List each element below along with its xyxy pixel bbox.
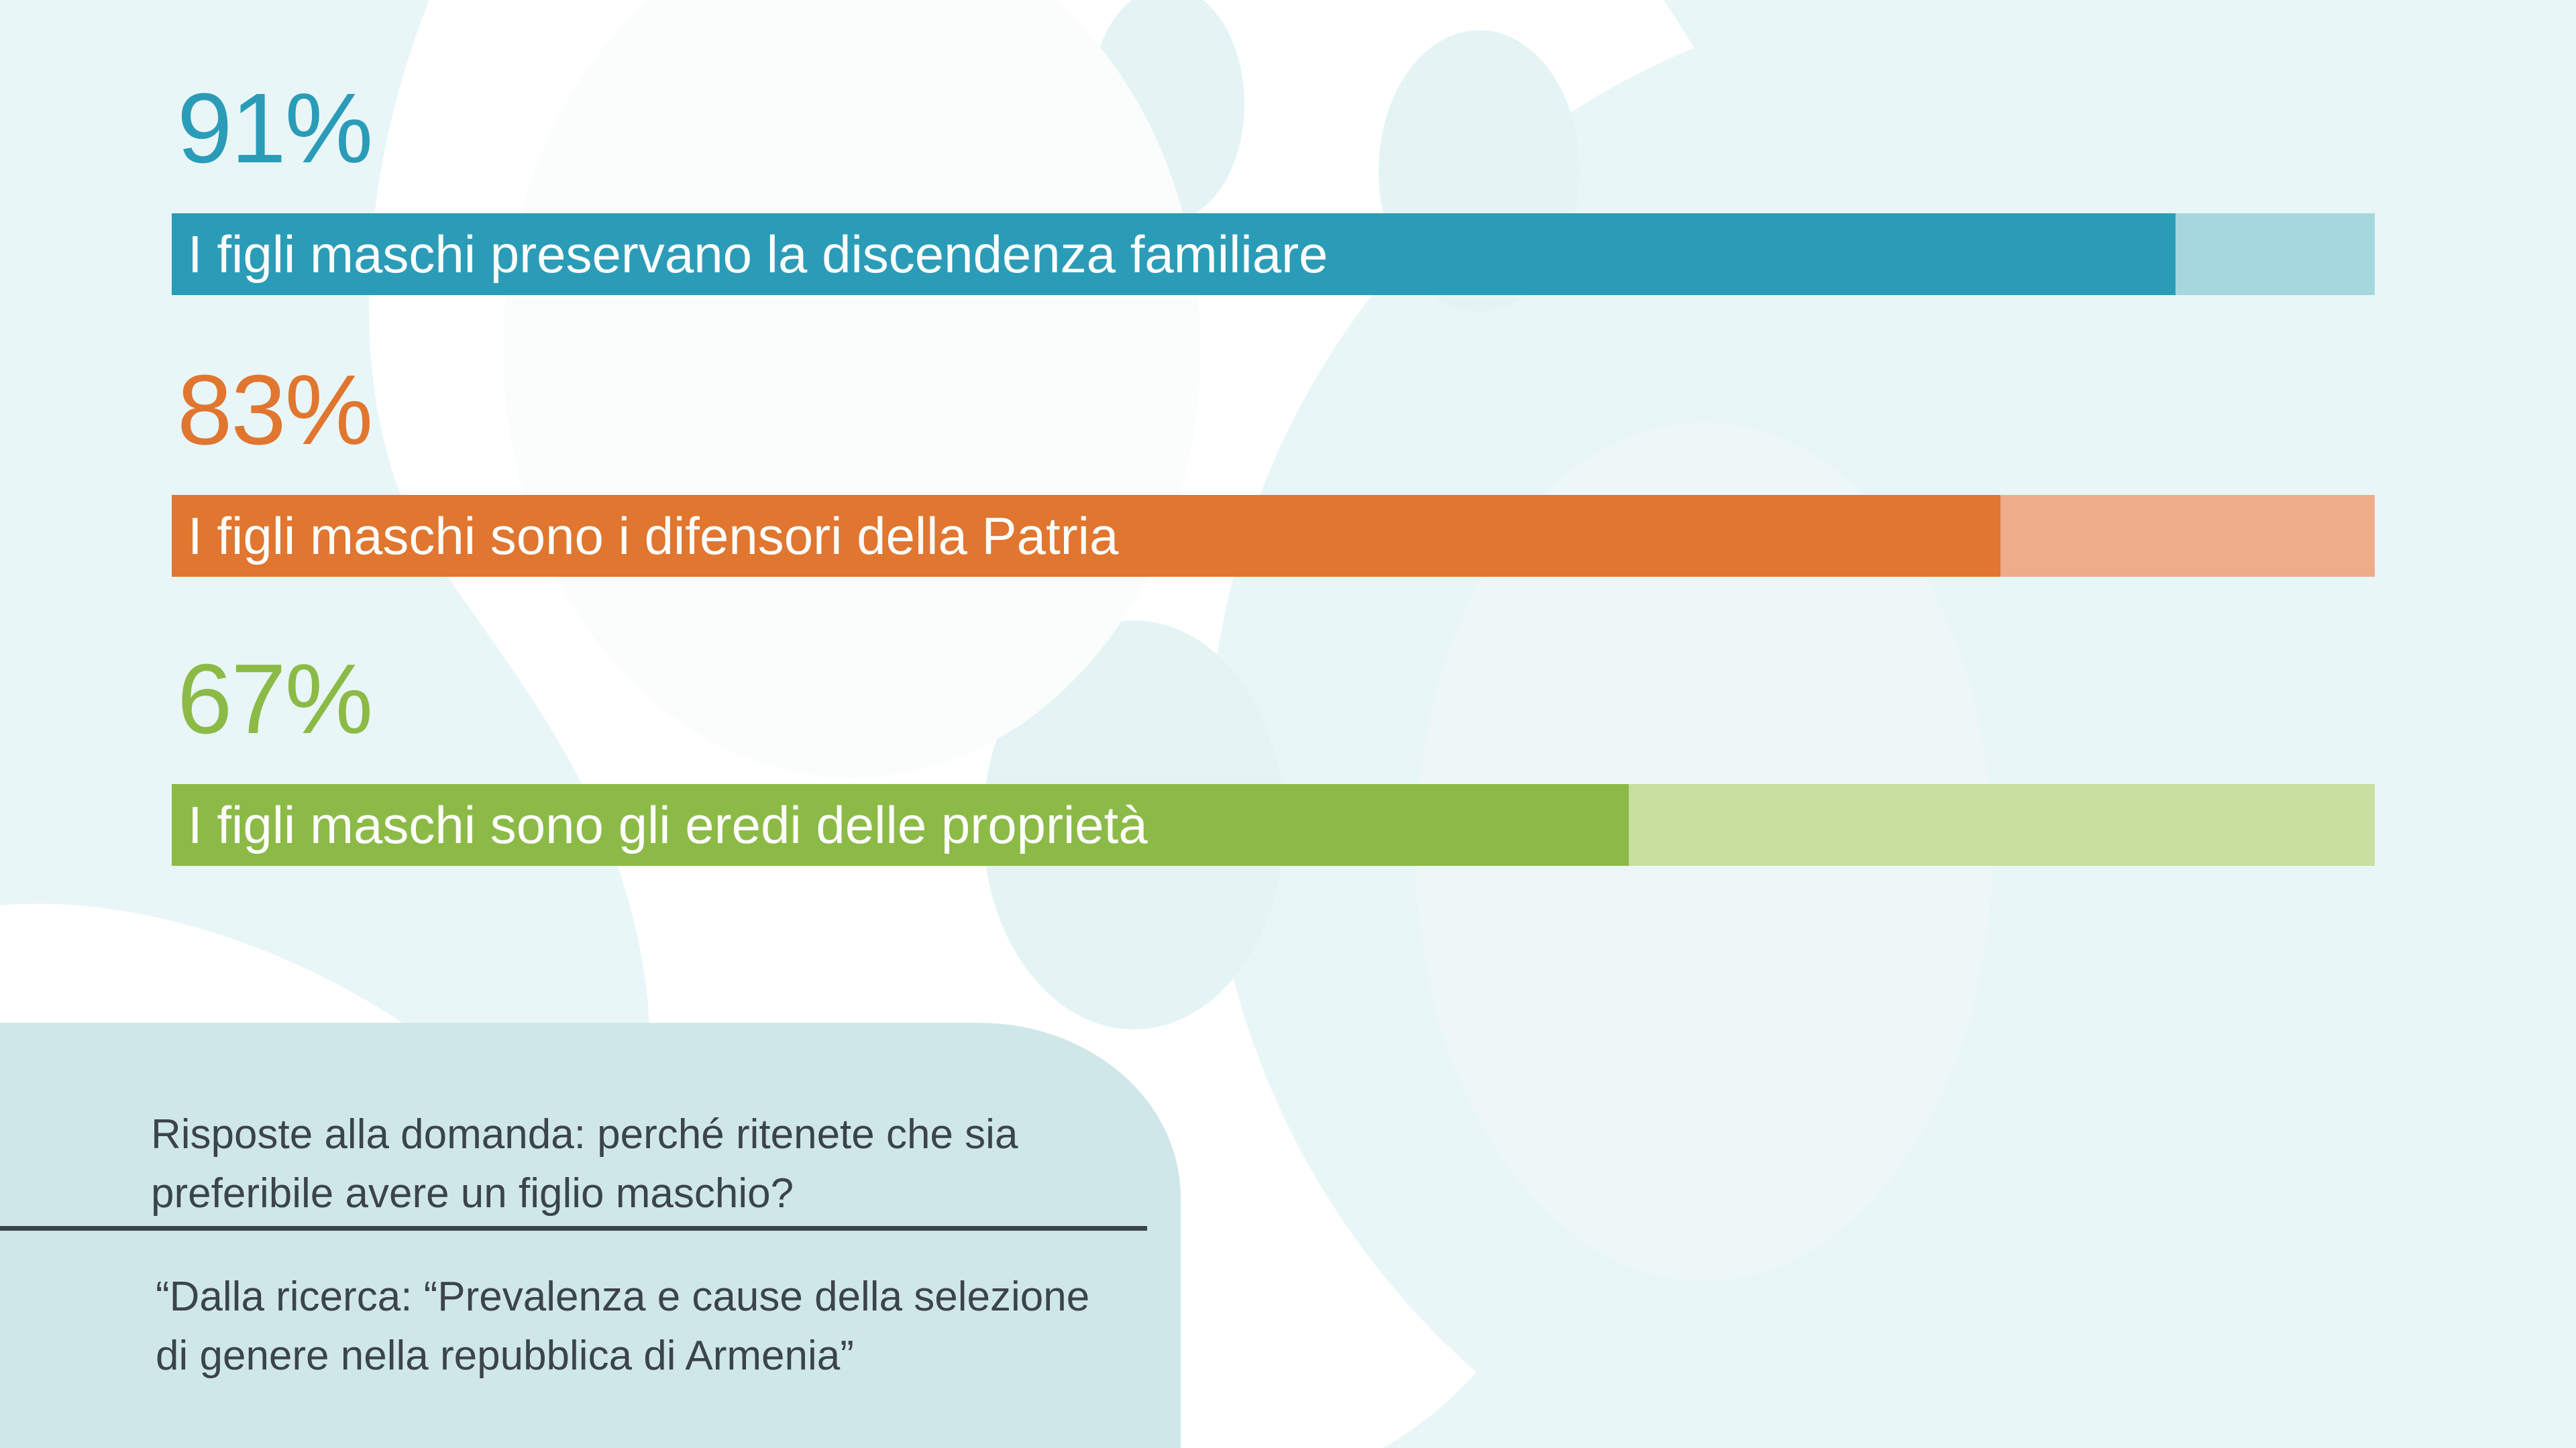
footer-source-line-1: “Dalla ricerca: “Prevalenza e cause dell… [156, 1268, 1162, 1327]
bar-label-1: I figli maschi preservano la discendenza… [172, 213, 1328, 295]
bar-row-3: 67% I figli maschi sono gli eredi delle … [172, 650, 2375, 866]
footer-question-line-2: preferibile avere un figlio maschio? [151, 1164, 1124, 1223]
bar-track-2: I figli maschi sono i difensori della Pa… [172, 495, 2375, 577]
bar-row-2: 83% I figli maschi sono i difensori dell… [172, 361, 2375, 577]
infographic-slide: 91% I figli maschi preservano la discend… [0, 0, 2576, 1448]
bar-label-3: I figli maschi sono gli eredi delle prop… [172, 784, 1148, 866]
footer-panel: Risposte alla domanda: perché ritenete c… [0, 1023, 1181, 1448]
bar-track-1: I figli maschi preservano la discendenza… [172, 213, 2375, 295]
footer-source: “Dalla ricerca: “Prevalenza e cause dell… [156, 1268, 1162, 1386]
footer-question: Risposte alla domanda: perché ritenete c… [151, 1105, 1124, 1223]
bar-chart: 91% I figli maschi preservano la discend… [0, 0, 2576, 939]
footer-source-line-2: di genere nella repubblica di Armenia” [156, 1327, 1162, 1386]
percent-label-1: 91% [172, 79, 2375, 178]
bar-track-3: I figli maschi sono gli eredi delle prop… [172, 784, 2375, 866]
bar-label-2: I figli maschi sono i difensori della Pa… [172, 495, 1118, 577]
percent-label-3: 67% [172, 650, 2375, 749]
bar-row-1: 91% I figli maschi preservano la discend… [172, 79, 2375, 295]
footer-divider [0, 1226, 1147, 1231]
footer-question-line-1: Risposte alla domanda: perché ritenete c… [151, 1105, 1124, 1164]
percent-label-2: 83% [172, 361, 2375, 460]
